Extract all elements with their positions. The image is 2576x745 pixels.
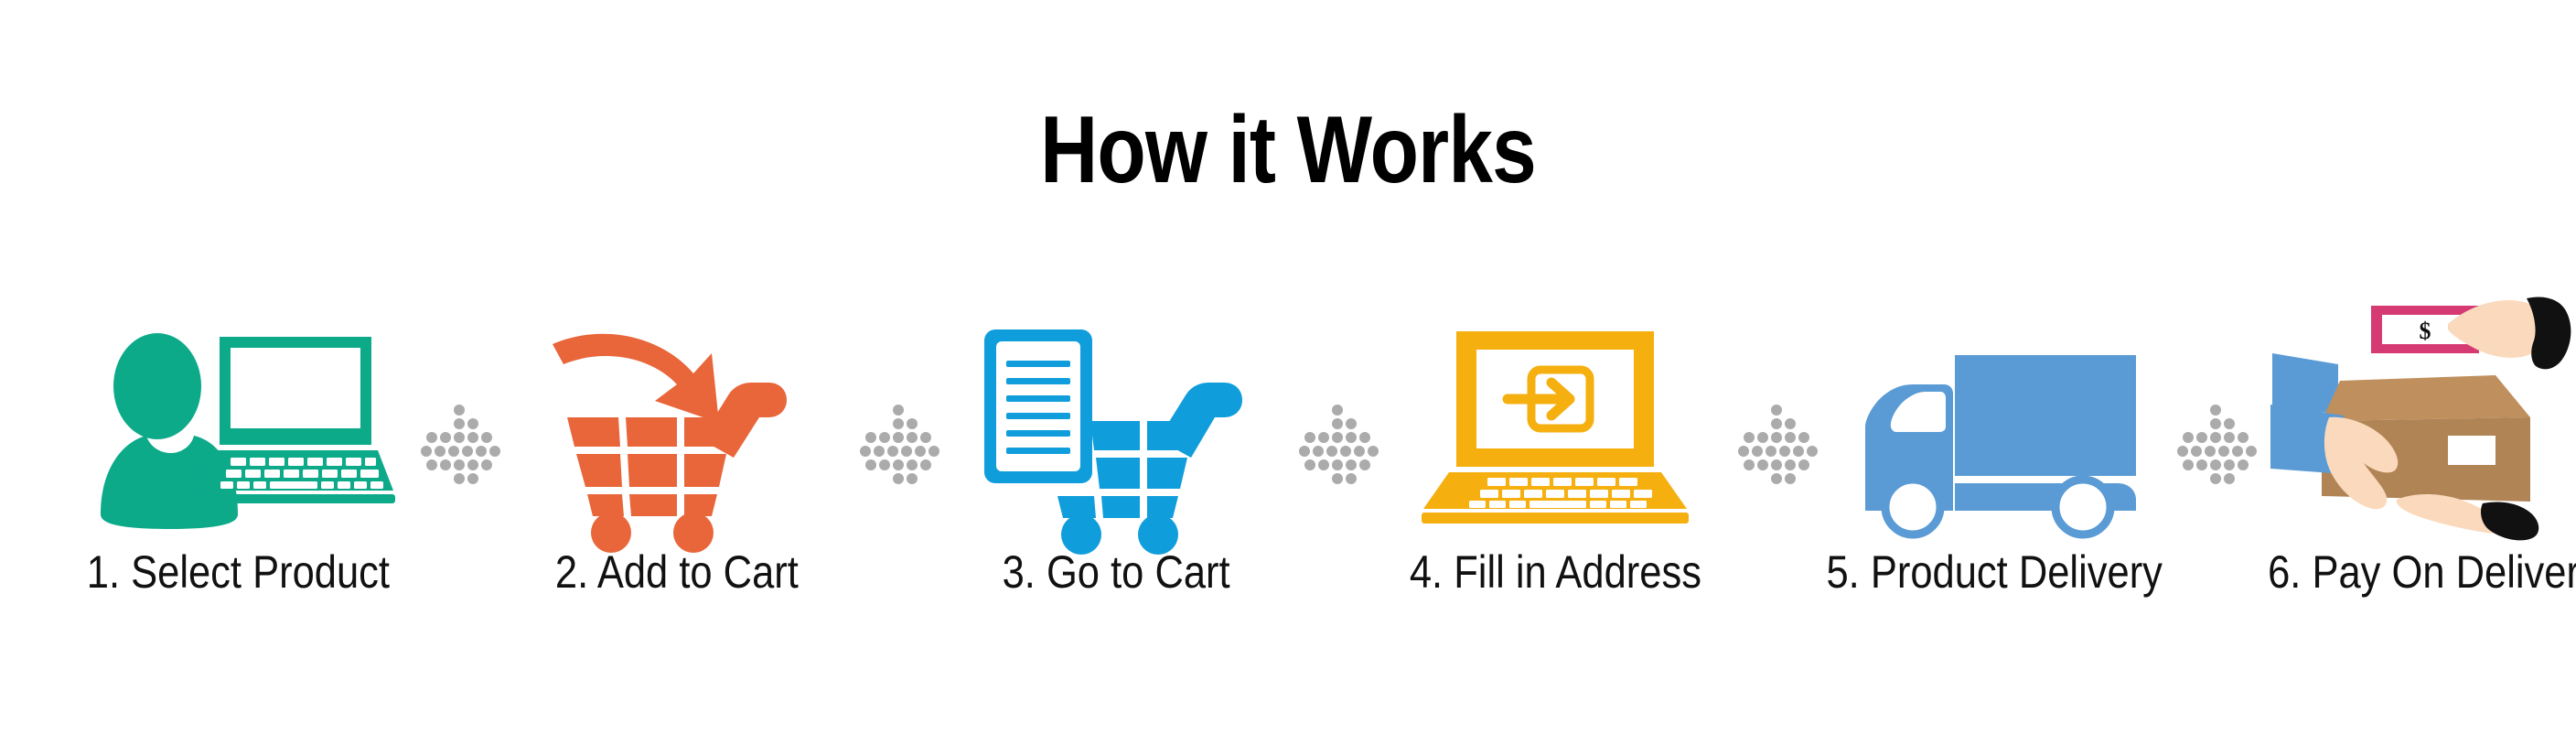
step-6-pay-on-delivery[interactable]: $: [2259, 302, 2576, 632]
dotted-arrow-right-icon: [412, 302, 503, 632]
step-label: 6. Pay On Delivery: [2268, 545, 2576, 599]
how-it-works-infographic: How it Works: [0, 0, 2576, 745]
person-with-laptop-icon: [73, 302, 402, 531]
dotted-arrow-right-icon: [1729, 302, 1820, 632]
step-1-select-product[interactable]: 1. Select Product: [64, 302, 412, 632]
steps-row: 1. Select Product: [64, 302, 2534, 632]
shopping-cart-with-arrow-icon: [512, 302, 842, 531]
step-label: 4. Fill in Address: [1409, 545, 1701, 599]
delivery-truck-icon: [1830, 302, 2159, 531]
step-label: 3. Go to Cart: [1002, 545, 1229, 599]
step-label: 2. Add to Cart: [555, 545, 799, 599]
laptop-with-login-arrow-icon: [1390, 302, 1720, 531]
step-4-fill-in-address[interactable]: 4. Fill in Address: [1381, 302, 1729, 632]
step-label: 5. Product Delivery: [1826, 545, 2162, 599]
step-5-product-delivery[interactable]: 5. Product Delivery: [1820, 302, 2168, 632]
step-2-add-to-cart[interactable]: 2. Add to Cart: [503, 302, 851, 632]
step-3-go-to-cart[interactable]: 3. Go to Cart: [942, 302, 1290, 632]
dollar-symbol: $: [2420, 318, 2431, 344]
dotted-arrow-right-icon: [2168, 302, 2259, 632]
dotted-arrow-right-icon: [1290, 302, 1381, 632]
step-label: 1. Select Product: [86, 545, 389, 599]
page-title: How it Works: [206, 99, 2369, 201]
hands-exchanging-box-and-money-icon: $: [2269, 302, 2576, 531]
dotted-arrow-right-icon: [851, 302, 942, 632]
document-with-cart-icon: [951, 302, 1281, 531]
